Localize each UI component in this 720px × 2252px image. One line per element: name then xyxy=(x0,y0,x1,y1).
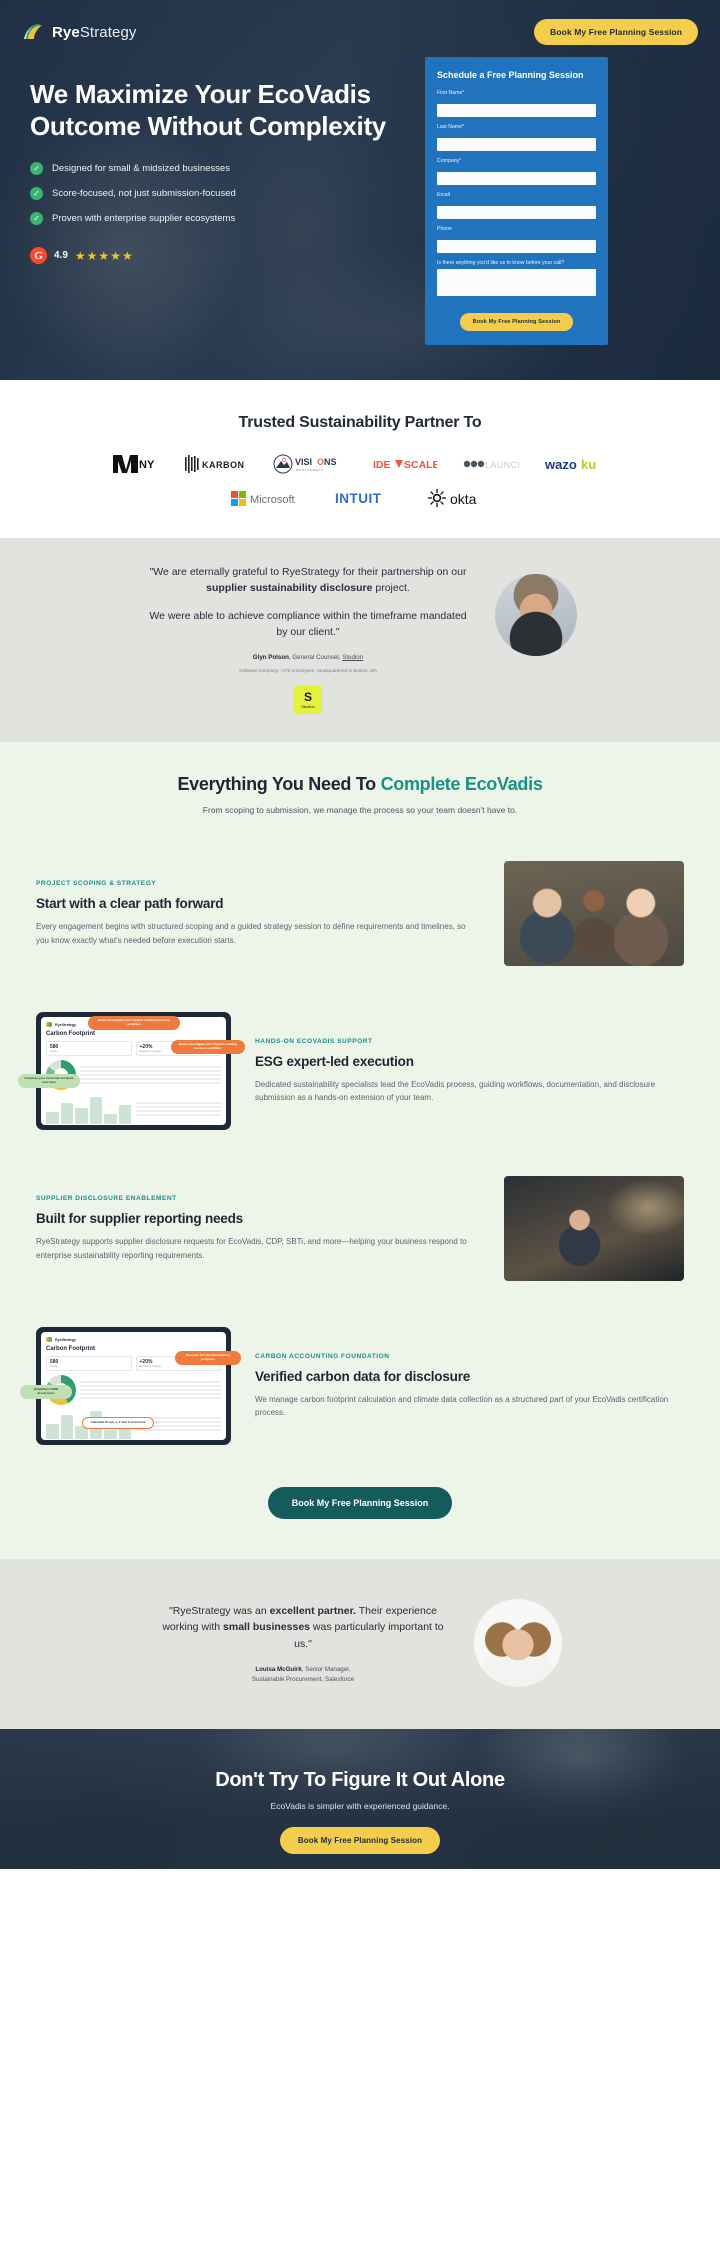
rating-score: 4.9 xyxy=(54,250,68,261)
partner-logo-vcny: NY xyxy=(113,454,159,474)
dashboard-callout-bottom: Calculate Scope 1, 2 and 3 emissions xyxy=(82,1417,154,1429)
partners-section: Trusted Sustainability Partner To NY KAR… xyxy=(0,380,720,538)
partner-logo-intuit: INTUIT xyxy=(335,488,397,508)
testimonial-meta-1: Software Company, ~175 employees, Headqu… xyxy=(143,668,473,673)
svg-text:O: O xyxy=(317,457,324,467)
studion-name: Studion xyxy=(301,704,315,709)
features-subheading: From scoping to submission, we manage th… xyxy=(40,805,680,815)
notes-textarea[interactable] xyxy=(437,269,596,296)
svg-text:LAUNCH: LAUNCH xyxy=(485,460,519,470)
company-input[interactable] xyxy=(437,172,596,185)
field-email: Email xyxy=(437,192,596,219)
hero-headline: We Maximize Your EcoVadis Outcome Withou… xyxy=(30,79,407,142)
rye-leaf-logo-icon xyxy=(46,1337,52,1342)
feature-dashboard-a: RyeStrategy Carbon Footprint 580 tCO2e +… xyxy=(36,1012,231,1130)
field-notes: Is there anything you'd like us to know … xyxy=(437,260,596,301)
svg-text:VISI: VISI xyxy=(295,457,312,467)
partner-logo-visions: VISI O NS MANAGEMENT xyxy=(273,454,347,474)
email-input[interactable] xyxy=(437,206,596,219)
dashboard-callout-left: Simplified CSRD disclosures xyxy=(20,1385,72,1399)
testimonial-author-2: Louisa McGuirk xyxy=(255,1666,301,1673)
feature-body: RyeStrategy supports supplier disclosure… xyxy=(36,1235,480,1261)
svg-text:NY: NY xyxy=(139,459,155,471)
field-last-name: Last Name* xyxy=(437,124,596,151)
footer-book-session-button[interactable]: Book My Free Planning Session xyxy=(280,1827,440,1854)
testimonial-section-2: "RyeStrategy was an excellent partner. T… xyxy=(0,1559,720,1729)
field-company: Company* xyxy=(437,158,596,185)
hero-section: RyeStrategy Book My Free Planning Sessio… xyxy=(0,0,720,380)
svg-text:wazo: wazo xyxy=(545,457,577,472)
svg-text:KARBON: KARBON xyxy=(202,460,245,470)
dashboard-kpi: 580 tCO2e xyxy=(46,1041,132,1056)
dashboard-list xyxy=(80,1060,221,1090)
studion-logo: S Studion xyxy=(294,686,322,714)
g2-rating: G 4.9 ★★★★★ xyxy=(30,247,407,264)
svg-text:ku: ku xyxy=(581,457,596,472)
feature-row-4: RyeStrategy Carbon Footprint 580 tCO2e +… xyxy=(0,1327,720,1445)
testimonial-quote-1: "We are eternally grateful to RyeStrateg… xyxy=(143,564,473,597)
feature-body: Dedicated sustainability specialists lea… xyxy=(255,1078,684,1104)
svg-text:MANAGEMENT: MANAGEMENT xyxy=(296,468,324,472)
dashboard-callout-top: Measure YoY decarbonization progress xyxy=(175,1351,241,1365)
brand-name: RyeStrategy xyxy=(52,24,137,41)
feature-row-2: RyeStrategy Carbon Footprint 580 tCO2e +… xyxy=(0,1012,720,1130)
feature-title: Start with a clear path forward xyxy=(36,896,480,911)
field-phone: Phone xyxy=(437,226,596,253)
g2-logo-icon: G xyxy=(30,247,47,264)
svg-text:okta: okta xyxy=(450,491,477,507)
field-label: Is there anything you'd like us to know … xyxy=(437,260,596,266)
testimonial-attribution-2: Louisa McGuirk, Senior Manager, xyxy=(158,1666,448,1673)
hero-bullet-label: Designed for small & midsized businesses xyxy=(52,163,230,174)
field-label: Last Name* xyxy=(437,124,596,130)
nav-book-session-button[interactable]: Book My Free Planning Session xyxy=(534,19,698,45)
hero-lead-form: Schedule a Free Planning Session First N… xyxy=(425,57,608,345)
dashboard-callout-right: Easily investigate your highest emitting… xyxy=(171,1040,245,1054)
partner-logo-microsoft: Microsoft xyxy=(231,488,305,508)
testimonial-quote-1-part2: We were able to achieve compliance withi… xyxy=(143,608,473,641)
partner-logo-okta: okta xyxy=(427,488,489,508)
footer-cta-title: Don't Try To Figure It Out Alone xyxy=(0,1769,720,1792)
partner-logo-row-1: NY KARBON VISI xyxy=(0,454,720,474)
feature-eyebrow: SUPPLIER DISCLOSURE ENABLEMENT xyxy=(36,1195,480,1202)
hero-bullet-item: ✓ Score-focused, not just submission-foc… xyxy=(30,187,407,200)
first-name-input[interactable] xyxy=(437,104,596,117)
feature-body: We manage carbon footprint calculation a… xyxy=(255,1393,684,1419)
partner-logo-ideascale: IDE SCALE xyxy=(373,454,437,474)
field-label: Phone xyxy=(437,226,596,232)
partners-title: Trusted Sustainability Partner To xyxy=(0,414,720,432)
features-book-session-button[interactable]: Book My Free Planning Session xyxy=(268,1487,453,1519)
features-cta-wrap: Book My Free Planning Session xyxy=(0,1445,720,1559)
hero-bullet-item: ✓ Designed for small & midsized business… xyxy=(30,162,407,175)
svg-text:NS: NS xyxy=(324,457,337,467)
testimonial-attribution-1: Glyn Polson, General Counsel, Studion xyxy=(143,654,473,661)
feature-dashboard-b: RyeStrategy Carbon Footprint 580 tCO2e +… xyxy=(36,1327,231,1445)
avatar xyxy=(495,574,577,656)
rye-leaf-logo-icon xyxy=(46,1022,52,1027)
dashboard-brand: RyeStrategy xyxy=(46,1337,221,1342)
testimonial-meta-2: Sustainable Procurement, Salesforce xyxy=(158,1676,448,1683)
hero-bullet-label: Proven with enterprise supplier ecosyste… xyxy=(52,213,235,224)
svg-text:IDE: IDE xyxy=(373,459,391,471)
feature-eyebrow: HANDS-ON ECOVADIS SUPPORT xyxy=(255,1038,684,1045)
feature-title: ESG expert-led execution xyxy=(255,1054,684,1069)
dashboard-list xyxy=(80,1375,221,1405)
field-first-name: First Name* xyxy=(437,90,596,117)
feature-row-3: SUPPLIER DISCLOSURE ENABLEMENT Built for… xyxy=(0,1176,720,1281)
hero-bullet-item: ✓ Proven with enterprise supplier ecosys… xyxy=(30,212,407,225)
footer-cta-section: Don't Try To Figure It Out Alone EcoVadi… xyxy=(0,1729,720,1869)
footer-cta-subtitle: EcoVadis is simpler with experienced gui… xyxy=(0,1801,720,1811)
brand-logo[interactable]: RyeStrategy xyxy=(22,22,137,42)
dashboard-title: Carbon Footprint xyxy=(46,1031,221,1037)
hero-bullet-list: ✓ Designed for small & midsized business… xyxy=(30,162,407,225)
dashboard-list-2 xyxy=(136,1094,222,1124)
form-title: Schedule a Free Planning Session xyxy=(437,70,596,80)
dashboard-kpi: 580 tCO2e xyxy=(46,1356,132,1371)
avatar xyxy=(474,1599,562,1687)
check-icon: ✓ xyxy=(30,212,43,225)
partner-logo-launch: LAUNCH xyxy=(463,454,519,474)
feature-body: Every engagement begins with structured … xyxy=(36,920,480,946)
testimonial-author-1: Glyn Polson xyxy=(253,654,289,661)
dashboard-bar-chart xyxy=(46,1094,132,1124)
dashboard-callout-left: Compare your historical footprint over t… xyxy=(18,1074,80,1088)
partner-logo-row-2: Microsoft INTUIT okta xyxy=(0,488,720,508)
top-navigation: RyeStrategy Book My Free Planning Sessio… xyxy=(22,0,698,45)
feature-row-1: PROJECT SCOPING & STRATEGY Start with a … xyxy=(0,861,720,966)
studion-glyph-icon: S xyxy=(304,691,312,703)
feature-title: Verified carbon data for disclosure xyxy=(255,1369,684,1384)
feature-image-team-meeting xyxy=(504,861,684,966)
feature-image-person-laptop xyxy=(504,1176,684,1281)
last-name-input[interactable] xyxy=(437,138,596,151)
hero-bullet-label: Score-focused, not just submission-focus… xyxy=(52,188,236,199)
check-icon: ✓ xyxy=(30,162,43,175)
form-submit-button[interactable]: Book My Free Planning Session xyxy=(460,313,574,331)
svg-text:INTUIT: INTUIT xyxy=(335,491,382,506)
rye-leaf-logo-icon xyxy=(22,22,46,42)
company-link[interactable]: Studion xyxy=(342,654,363,661)
field-label: First Name* xyxy=(437,90,596,96)
field-label: Company* xyxy=(437,158,596,164)
testimonial-section-1: "We are eternally grateful to RyeStrateg… xyxy=(0,538,720,742)
svg-text:SCALE: SCALE xyxy=(404,459,437,471)
features-section: Everything You Need To Complete EcoVadis… xyxy=(0,742,720,1559)
rating-stars-icon: ★★★★★ xyxy=(75,249,134,263)
check-icon: ✓ xyxy=(30,187,43,200)
feature-eyebrow: PROJECT SCOPING & STRATEGY xyxy=(36,880,480,887)
field-label: Email xyxy=(437,192,596,198)
partner-logo-karbon: KARBON xyxy=(185,454,247,474)
svg-text:Microsoft: Microsoft xyxy=(250,494,295,506)
partner-logo-wazoku: wazo ku xyxy=(545,454,607,474)
feature-eyebrow: CARBON ACCOUNTING FOUNDATION xyxy=(255,1353,684,1360)
dashboard-callout-top: Easily investigate your highest emitting… xyxy=(88,1016,180,1030)
phone-input[interactable] xyxy=(437,240,596,253)
testimonial-quote-2: "RyeStrategy was an excellent partner. T… xyxy=(158,1603,448,1652)
features-heading: Everything You Need To Complete EcoVadis xyxy=(40,774,680,795)
landing-page: RyeStrategy Book My Free Planning Sessio… xyxy=(0,0,720,1869)
feature-title: Built for supplier reporting needs xyxy=(36,1211,480,1226)
